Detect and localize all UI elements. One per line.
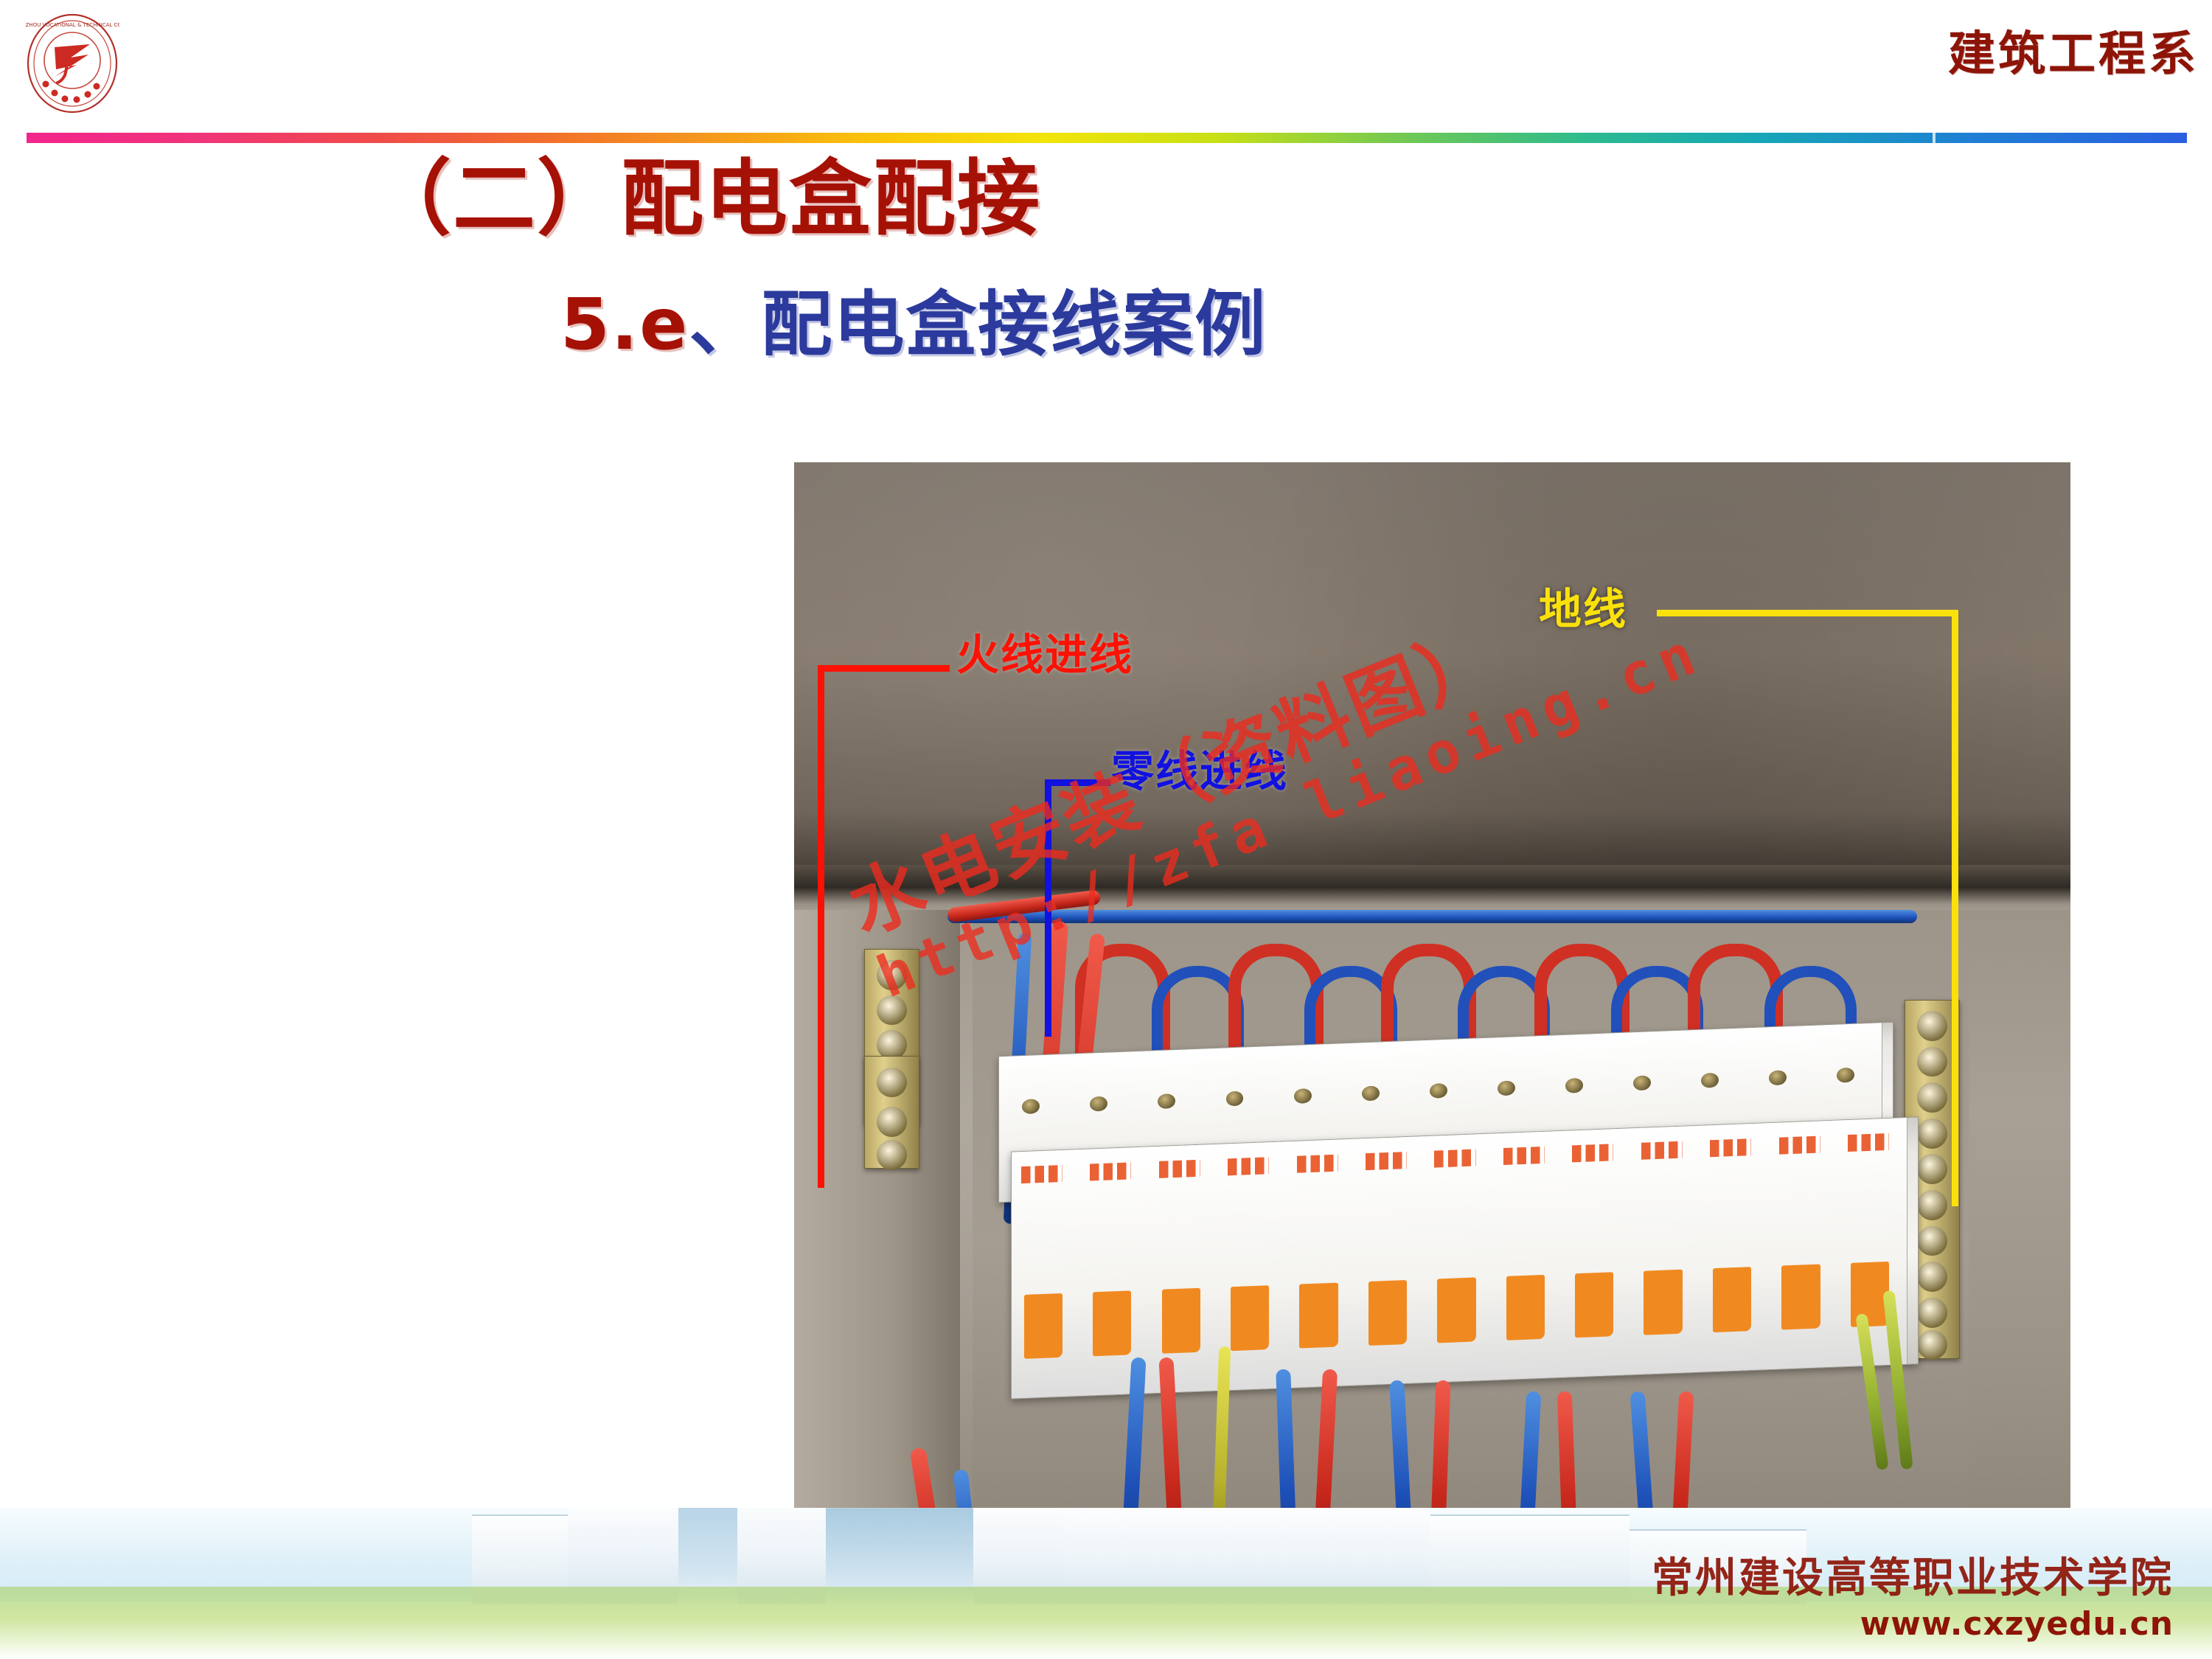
subtitle-text: 、配电盒接线案例	[689, 283, 1267, 366]
slide-header: CHANGZHOU VOCATIONAL & TECHNICAL COLLEGE…	[0, 0, 2212, 147]
hot-wire-callout-bracket	[818, 665, 950, 1188]
neutral-wire-label: 零线进线	[1111, 750, 1288, 793]
divider-tick	[1933, 133, 1935, 143]
footer-url: www.cxzyedu.cn	[1860, 1605, 2174, 1643]
hot-wire-label: 火线进线	[956, 633, 1133, 676]
school-seal-icon: CHANGZHOU VOCATIONAL & TECHNICAL COLLEGE	[25, 12, 119, 115]
page-subtitle: 5.e、配电盒接线案例	[560, 280, 1267, 369]
page-title: （二）配电盒配接	[369, 147, 1041, 251]
slide-footer: 常州建设高等职业技术学院 www.cxzyedu.cn	[0, 1508, 2212, 1659]
subtitle-code: 5.e	[560, 283, 689, 366]
ground-wire-label: 地线	[1539, 588, 1627, 630]
footer-school-name: 常州建设高等职业技术学院	[1652, 1545, 2174, 1604]
svg-text:CHANGZHOU VOCATIONAL & TECHNIC: CHANGZHOU VOCATIONAL & TECHNICAL COLLEGE	[25, 22, 119, 28]
rainbow-divider	[27, 133, 2187, 143]
department-title: 建筑工程系	[1948, 31, 2199, 78]
distribution-box-photo: 火线进线 零线进线 地线 水电安装（资料图） http://zfa liaoin…	[794, 462, 2070, 1582]
neutral-wire-callout-bracket	[1045, 779, 1110, 1037]
ground-wire-callout-bracket	[1657, 610, 1958, 1206]
